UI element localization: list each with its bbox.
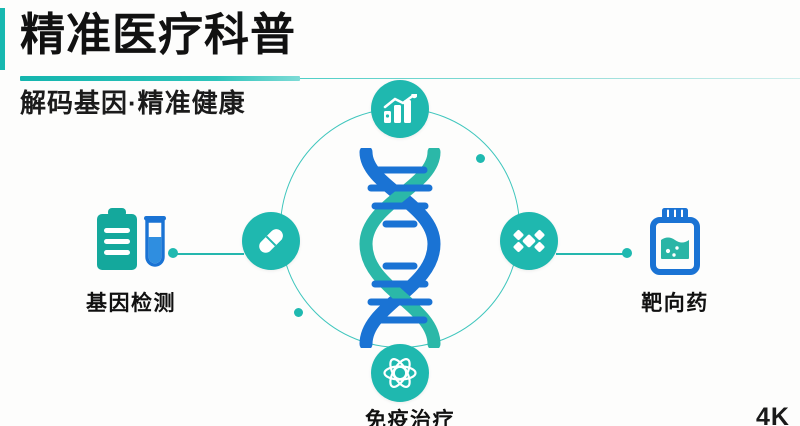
watermark: 4K: [756, 403, 790, 426]
left-edge-accent-bar: [0, 8, 5, 70]
node-capsule[interactable]: [242, 212, 300, 270]
orbit-dot-bottom-left: [294, 308, 303, 317]
dna-helix-icon: [342, 148, 458, 348]
page-title: 精准医疗科普: [20, 8, 780, 62]
medicine-bottle-icon: [641, 206, 709, 276]
header: 精准医疗科普 解码基因·精准健康: [20, 8, 780, 62]
page-subtitle: 解码基因·精准健康: [20, 86, 246, 120]
item-targeted-drug[interactable]: 靶向药: [590, 206, 760, 317]
node-bar-chart[interactable]: [371, 80, 429, 138]
title-underline-thick: [20, 76, 300, 81]
item-targeted-drug-label: 靶向药: [590, 287, 760, 317]
item-gene-testing[interactable]: 基因检测: [46, 206, 216, 317]
center-diagram: [260, 88, 540, 408]
item-gene-testing-label: 基因检测: [46, 287, 216, 317]
test-tube-icon: [144, 216, 166, 265]
node-atom[interactable]: [371, 344, 429, 402]
item-immunotherapy-label: 免疫治疗: [300, 404, 520, 426]
orbit-dot-top-right: [476, 154, 485, 163]
infographic-canvas: 精准医疗科普 解码基因·精准健康: [0, 0, 800, 426]
node-molecule[interactable]: [500, 212, 558, 270]
clipboard-icon: [83, 206, 179, 276]
title-underline-thin: [300, 78, 800, 80]
